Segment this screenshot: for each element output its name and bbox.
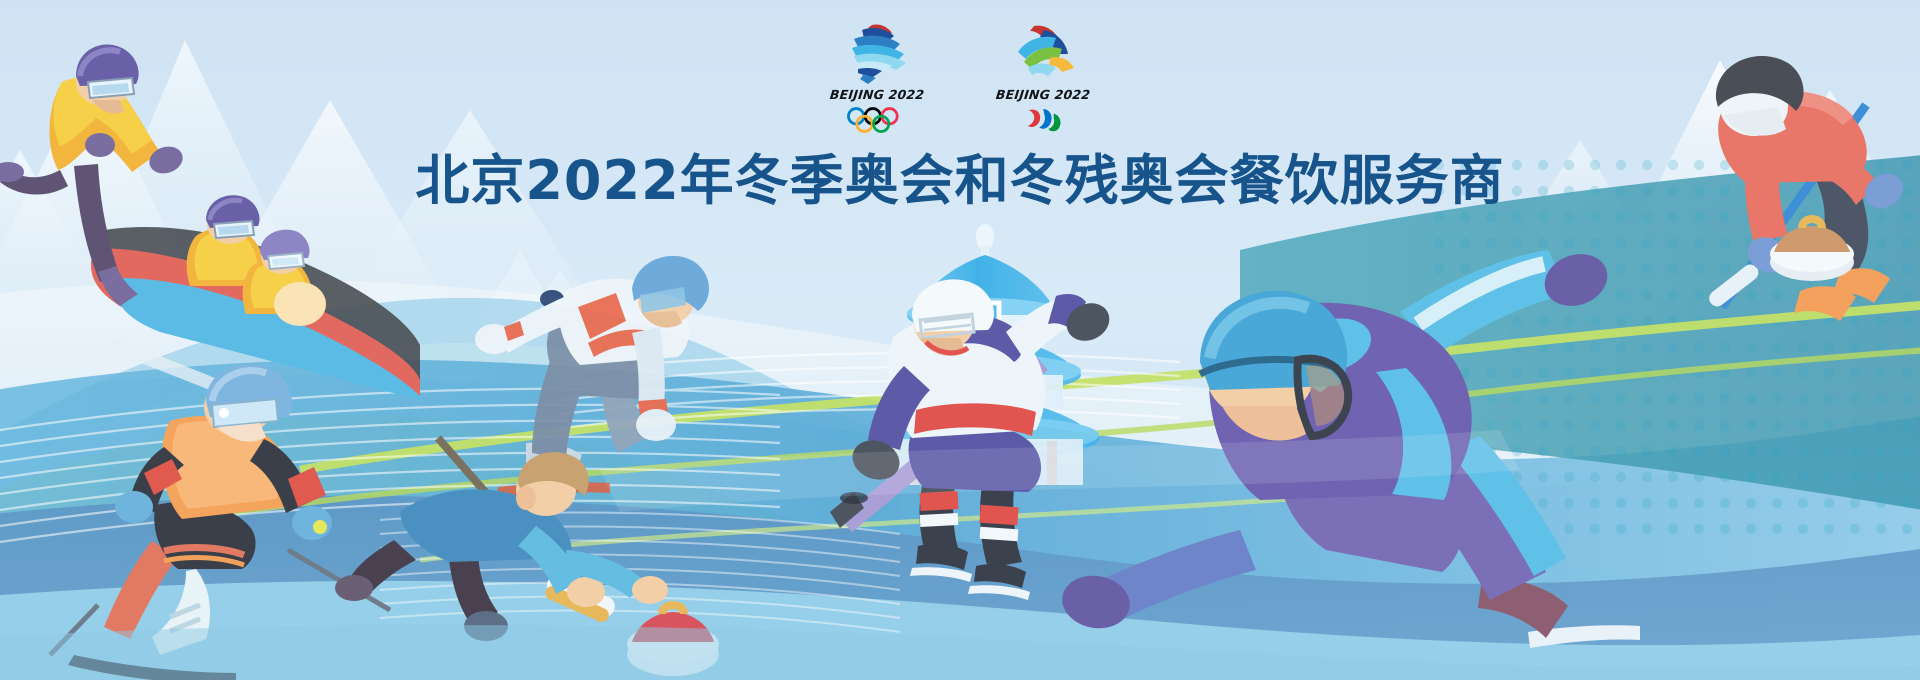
thrower-shoe-2 — [1794, 286, 1856, 321]
sweeper-glove — [567, 577, 605, 607]
ski-left — [68, 655, 236, 680]
olympic-emblem-wordmark: BEIJING 2022 — [829, 87, 925, 102]
banner-title-wrap: 北京2022年冬季奥会和冬残奥会餐饮服务商 — [0, 118, 1920, 244]
beijing-2022-paralympic-emblem-icon — [1004, 22, 1082, 84]
hockey-skate-front — [974, 564, 1026, 588]
hockey-player-body — [847, 279, 1116, 600]
skier-glove-front — [292, 506, 332, 540]
skier-glove-back — [115, 491, 153, 523]
beijing-2022-banner: BEIJING 2022 BEIJING 2022 — [0, 0, 1920, 680]
hockey-puck — [840, 492, 868, 504]
paralympic-emblem-block: BEIJING 2022 — [989, 22, 1097, 132]
sweeper-ear — [516, 486, 536, 510]
skier-body — [104, 364, 332, 655]
olympic-emblem-block: BEIJING 2022 — [823, 22, 931, 132]
hockey-helmet — [912, 279, 994, 332]
page-title: 北京2022年冬季奥会和冬残奥会餐饮服务商 — [415, 154, 1504, 208]
beijing-2022-olympic-emblem-icon — [838, 22, 916, 84]
emblem-row: BEIJING 2022 BEIJING 2022 — [0, 22, 1920, 132]
large-skater-body — [1058, 246, 1640, 648]
paralympic-emblem-wordmark: BEIJING 2022 — [995, 87, 1091, 102]
curling-stone-bottom — [618, 596, 728, 680]
rider2-shoulder — [274, 282, 326, 326]
hockey-sock-front — [980, 486, 1022, 568]
speed-skater-large-athlete — [1100, 250, 1720, 680]
